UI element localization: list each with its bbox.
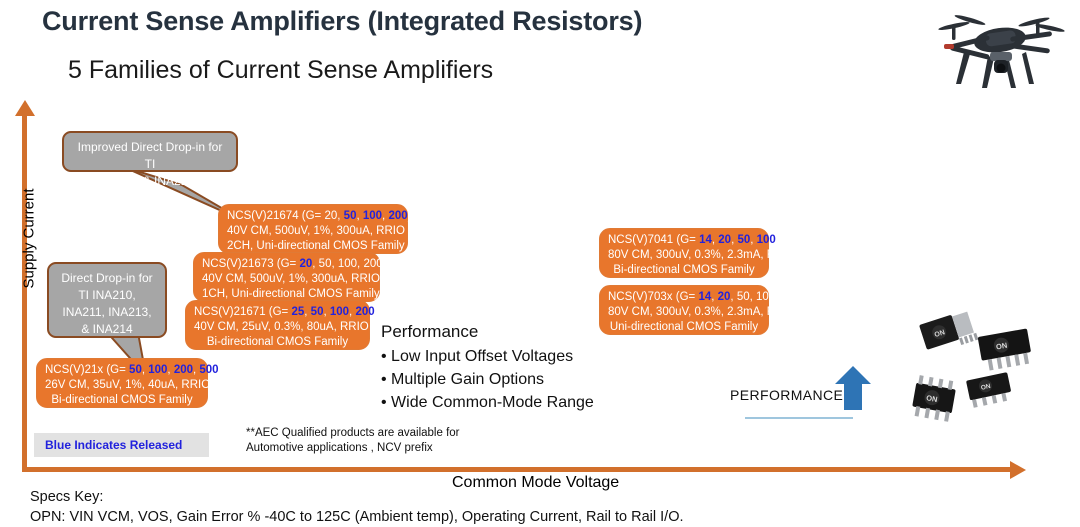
performance-arrow-label: PERFORMANCE: [730, 387, 843, 403]
callout-line: INA180 & INA2180: [74, 173, 226, 190]
specs-key: Specs Key: OPN: VIN VCM, VOS, Gain Error…: [30, 487, 684, 527]
performance-bullet-list: • Low Input Offset Voltages• Multiple Ga…: [381, 345, 594, 414]
product-title: NCS(V)21x (G= 50, 100, 200, 500): [45, 363, 199, 378]
gain-value: 50: [737, 291, 750, 303]
performance-underline: [745, 417, 853, 419]
product-box-ncsv7041[interactable]: NCS(V)7041 (G= 14, 20, 50, 100) 80V CM, …: [599, 228, 769, 278]
product-title: NCS(V)21671 (G= 25, 50, 100, 200): [194, 305, 361, 320]
gain-value: 100: [756, 291, 775, 303]
page-subtitle: 5 Families of Current Sense Amplifiers: [68, 56, 493, 85]
product-spec: 40V CM, 500uV, 1%, 300uA, RRIO: [202, 272, 371, 287]
product-box-ncsv21x[interactable]: NCS(V)21x (G= 50, 100, 200, 500) 26V CM,…: [36, 358, 208, 408]
product-box-ncsv703x[interactable]: NCS(V)703x (G= 14, 20, 50, 100) 80V CM, …: [599, 285, 769, 335]
gain-value: 14: [698, 291, 711, 303]
aec-footnote: **AEC Qualified products are available f…: [246, 426, 460, 456]
product-title: NCS(V)21674 (G= 20, 50, 100, 200): [227, 209, 399, 224]
gain-value: 200: [363, 258, 382, 270]
callout-line: Improved Direct Drop-in for TI: [74, 139, 226, 173]
slide-canvas: Current Sense Amplifiers (Integrated Res…: [0, 0, 1080, 523]
gain-value: 100: [757, 234, 776, 246]
product-spec: 80V CM, 300uV, 0.3%, 2.3mA, RRIO: [608, 248, 760, 263]
performance-bullet: • Low Input Offset Voltages: [381, 345, 594, 368]
product-family: Bi-directional CMOS Family: [194, 335, 361, 350]
page-title: Current Sense Amplifiers (Integrated Res…: [42, 6, 642, 37]
legend-blue-indicates-released: Blue Indicates Released: [34, 433, 209, 457]
gain-value: 25: [291, 306, 304, 318]
gain-value: 100: [330, 306, 349, 318]
product-family: Uni-directional CMOS Family: [608, 320, 760, 335]
gain-value: 100: [148, 364, 167, 376]
up-arrow-icon: [835, 366, 871, 410]
product-box-ncsv21671[interactable]: NCS(V)21671 (G= 25, 50, 100, 200) 40V CM…: [185, 300, 370, 350]
product-title: NCS(V)7041 (G= 14, 20, 50, 100): [608, 233, 760, 248]
callout-line: & INA214: [59, 321, 155, 338]
performance-bullet: • Wide Common-Mode Range: [381, 391, 594, 414]
gain-value: 500: [199, 364, 218, 376]
gain-value: 100: [363, 210, 382, 222]
footnote-line-1: **AEC Qualified products are available f…: [246, 426, 460, 441]
specs-key-detail: OPN: VIN VCM, VOS, Gain Error % -40C to …: [30, 507, 684, 527]
gain-value: 50: [311, 306, 324, 318]
product-title: NCS(V)703x (G= 14, 20, 50, 100): [608, 290, 760, 305]
gain-value: 100: [338, 258, 357, 270]
product-box-ncsv21673[interactable]: NCS(V)21673 (G= 20, 50, 100, 200) 40V CM…: [193, 252, 380, 302]
callout-line: INA211, INA213,: [59, 304, 155, 321]
product-spec: 80V CM, 300uV, 0.3%, 2.3mA, RRIO: [608, 305, 760, 320]
ic-chips-image: ON ON O: [898, 306, 1074, 422]
footnote-line-2: Automotive applications , NCV prefix: [246, 441, 460, 456]
product-spec: 40V CM, 25uV, 0.3%, 80uA, RRIO: [194, 320, 361, 335]
gain-value: 50: [129, 364, 142, 376]
x-axis-line: [22, 467, 1014, 472]
gain-value: 50: [344, 210, 357, 222]
gain-value: 50: [737, 234, 750, 246]
callout-improved-drop-in: Improved Direct Drop-in for TI INA180 & …: [62, 131, 238, 172]
drone-image: [930, 4, 1070, 90]
gain-value: 200: [174, 364, 193, 376]
gain-value: 20: [299, 258, 312, 270]
gain-value: 20: [718, 234, 731, 246]
product-family: Bi-directional CMOS Family: [45, 393, 199, 408]
product-box-ncsv21674[interactable]: NCS(V)21674 (G= 20, 50, 100, 200) 40V CM…: [218, 204, 408, 254]
gain-value: 200: [355, 306, 374, 318]
gain-value: 20: [324, 210, 337, 222]
callout-direct-drop-in: Direct Drop-in for TI INA210, INA211, IN…: [47, 262, 167, 338]
y-axis-label: Supply Current: [21, 184, 38, 294]
performance-bullet: • Multiple Gain Options: [381, 368, 594, 391]
specs-key-heading: Specs Key:: [30, 487, 684, 507]
callout-line: Direct Drop-in for: [59, 270, 155, 287]
gain-value: 50: [319, 258, 332, 270]
product-family: Bi-directional CMOS Family: [608, 263, 760, 278]
product-spec: 26V CM, 35uV, 1%, 40uA, RRIO: [45, 378, 199, 393]
x-axis-arrowhead: [1010, 461, 1026, 479]
legend-label: Blue Indicates Released: [34, 438, 182, 452]
performance-heading: Performance: [381, 322, 478, 342]
product-spec: 40V CM, 500uV, 1%, 300uA, RRIO: [227, 224, 399, 239]
gain-value: 200: [388, 210, 407, 222]
svg-text:ON: ON: [926, 393, 939, 404]
callout-line: TI INA210,: [59, 287, 155, 304]
gain-value: 20: [718, 291, 731, 303]
product-title: NCS(V)21673 (G= 20, 50, 100, 200): [202, 257, 371, 272]
gain-value: 14: [699, 234, 712, 246]
svg-text:ON: ON: [995, 341, 1008, 352]
